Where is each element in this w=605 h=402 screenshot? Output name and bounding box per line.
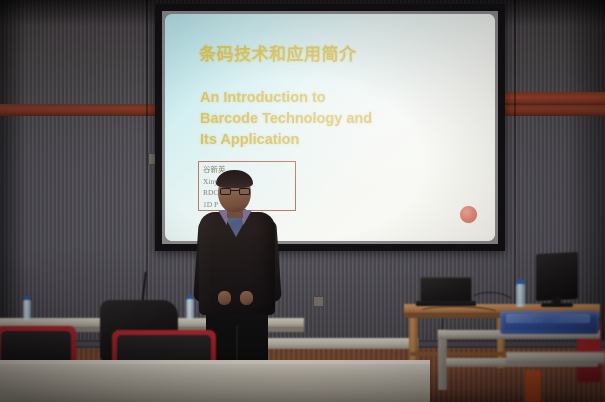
presentation-slide: 条码技术和应用简介 An Introduction to Barcode Tec… — [165, 14, 495, 241]
glasses-bridge — [231, 190, 239, 191]
slide-subtitle-english: An Introduction to Barcode Technology an… — [200, 88, 450, 151]
bottle-cap — [187, 295, 193, 299]
glasses-lens-left — [220, 188, 231, 195]
desktop-monitor — [536, 252, 578, 301]
water-bottle-left — [23, 300, 31, 320]
bottle-cap — [24, 296, 30, 300]
blue-plastic-crate — [500, 311, 599, 334]
slide-subtitle-line-2: Barcode Technology and — [200, 109, 450, 130]
slide-accent-dot-icon — [460, 206, 477, 223]
student-desk-middle — [258, 338, 418, 349]
desk-stretcher — [410, 352, 505, 356]
desk-front-right — [506, 352, 605, 364]
water-bottle-on-desk — [516, 284, 525, 307]
wall-shadow-left — [0, 0, 26, 352]
wall-power-outlet — [313, 296, 324, 307]
photo-scene: 条码技术和应用简介 An Introduction to Barcode Tec… — [0, 0, 605, 402]
chair-orange-frame — [525, 370, 541, 402]
student-desk-foreground-lip — [0, 360, 430, 364]
crate-highlight — [506, 314, 590, 323]
monitor-foot — [541, 303, 573, 307]
presenter-hand-right — [240, 291, 253, 305]
glasses-lens-right — [239, 188, 250, 195]
presenter-hand-left — [218, 291, 231, 305]
slide-title-chinese: 条码技术和应用简介 — [199, 40, 357, 65]
bottle-cap — [517, 279, 524, 284]
student-desk-foreground — [0, 360, 430, 402]
slide-subtitle-line-3: Its Application — [200, 130, 450, 151]
presenter-glasses-icon — [220, 188, 250, 195]
slide-subtitle-line-1: An Introduction to — [200, 88, 450, 109]
water-bottle-middle — [186, 299, 194, 319]
